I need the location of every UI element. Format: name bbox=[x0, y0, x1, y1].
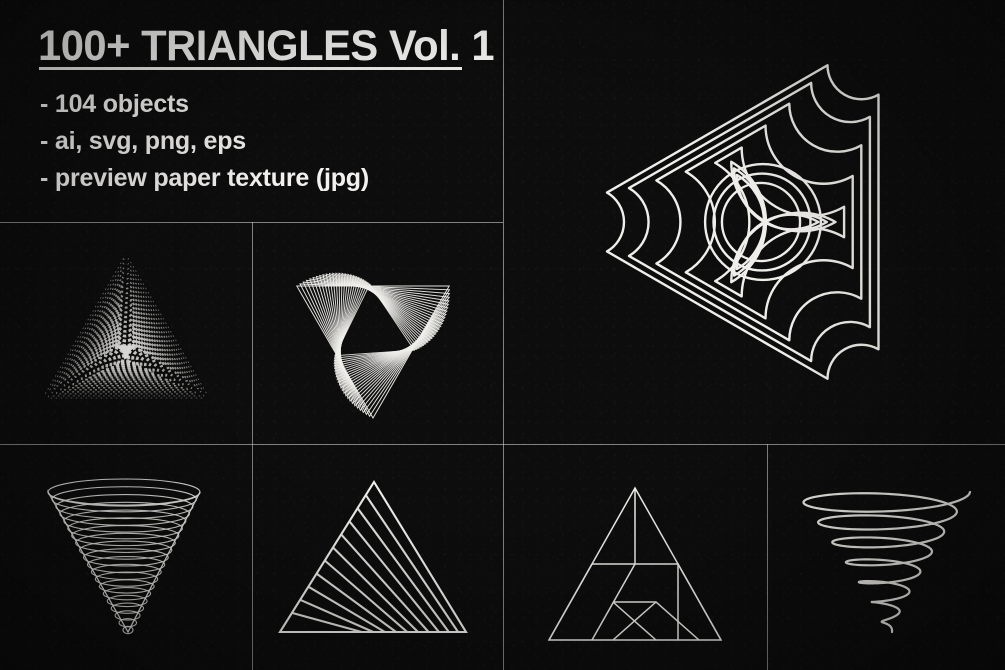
feature-list: - 104 objects - ai, svg, png, eps - prev… bbox=[40, 86, 369, 197]
list-item: - ai, svg, png, eps bbox=[40, 123, 369, 160]
poster-canvas: 100+ TRIANGLES Vol. 1 - 104 objects - ai… bbox=[0, 0, 1005, 670]
geo-svg bbox=[503, 444, 767, 670]
fan-svg bbox=[252, 444, 503, 670]
artwork-apex-fan-triangle bbox=[252, 444, 503, 670]
artwork-spiral-cone-funnel bbox=[0, 444, 252, 670]
list-item: - preview paper texture (jpg) bbox=[40, 160, 369, 197]
list-item: - 104 objects bbox=[40, 86, 369, 123]
artwork-hero-nested-rounded-triangles bbox=[503, 0, 1005, 444]
tornado-svg bbox=[767, 444, 1005, 670]
artwork-rotating-triangle-spiral bbox=[252, 222, 503, 444]
hero-svg bbox=[503, 0, 1005, 444]
page-title: 100+ TRIANGLES Vol. 1 bbox=[38, 22, 494, 71]
artwork-tornado-helix bbox=[767, 444, 1005, 670]
title-underline bbox=[39, 67, 462, 70]
header-block: 100+ TRIANGLES Vol. 1 - 104 objects - ai… bbox=[0, 0, 503, 222]
geo-paths bbox=[549, 488, 721, 640]
artwork-geometric-line-triangle bbox=[503, 444, 767, 670]
artwork-dotted-concentric-triangles bbox=[0, 222, 252, 444]
spiral-svg bbox=[252, 222, 503, 444]
dots-svg bbox=[0, 222, 252, 444]
cone-svg bbox=[0, 444, 252, 670]
